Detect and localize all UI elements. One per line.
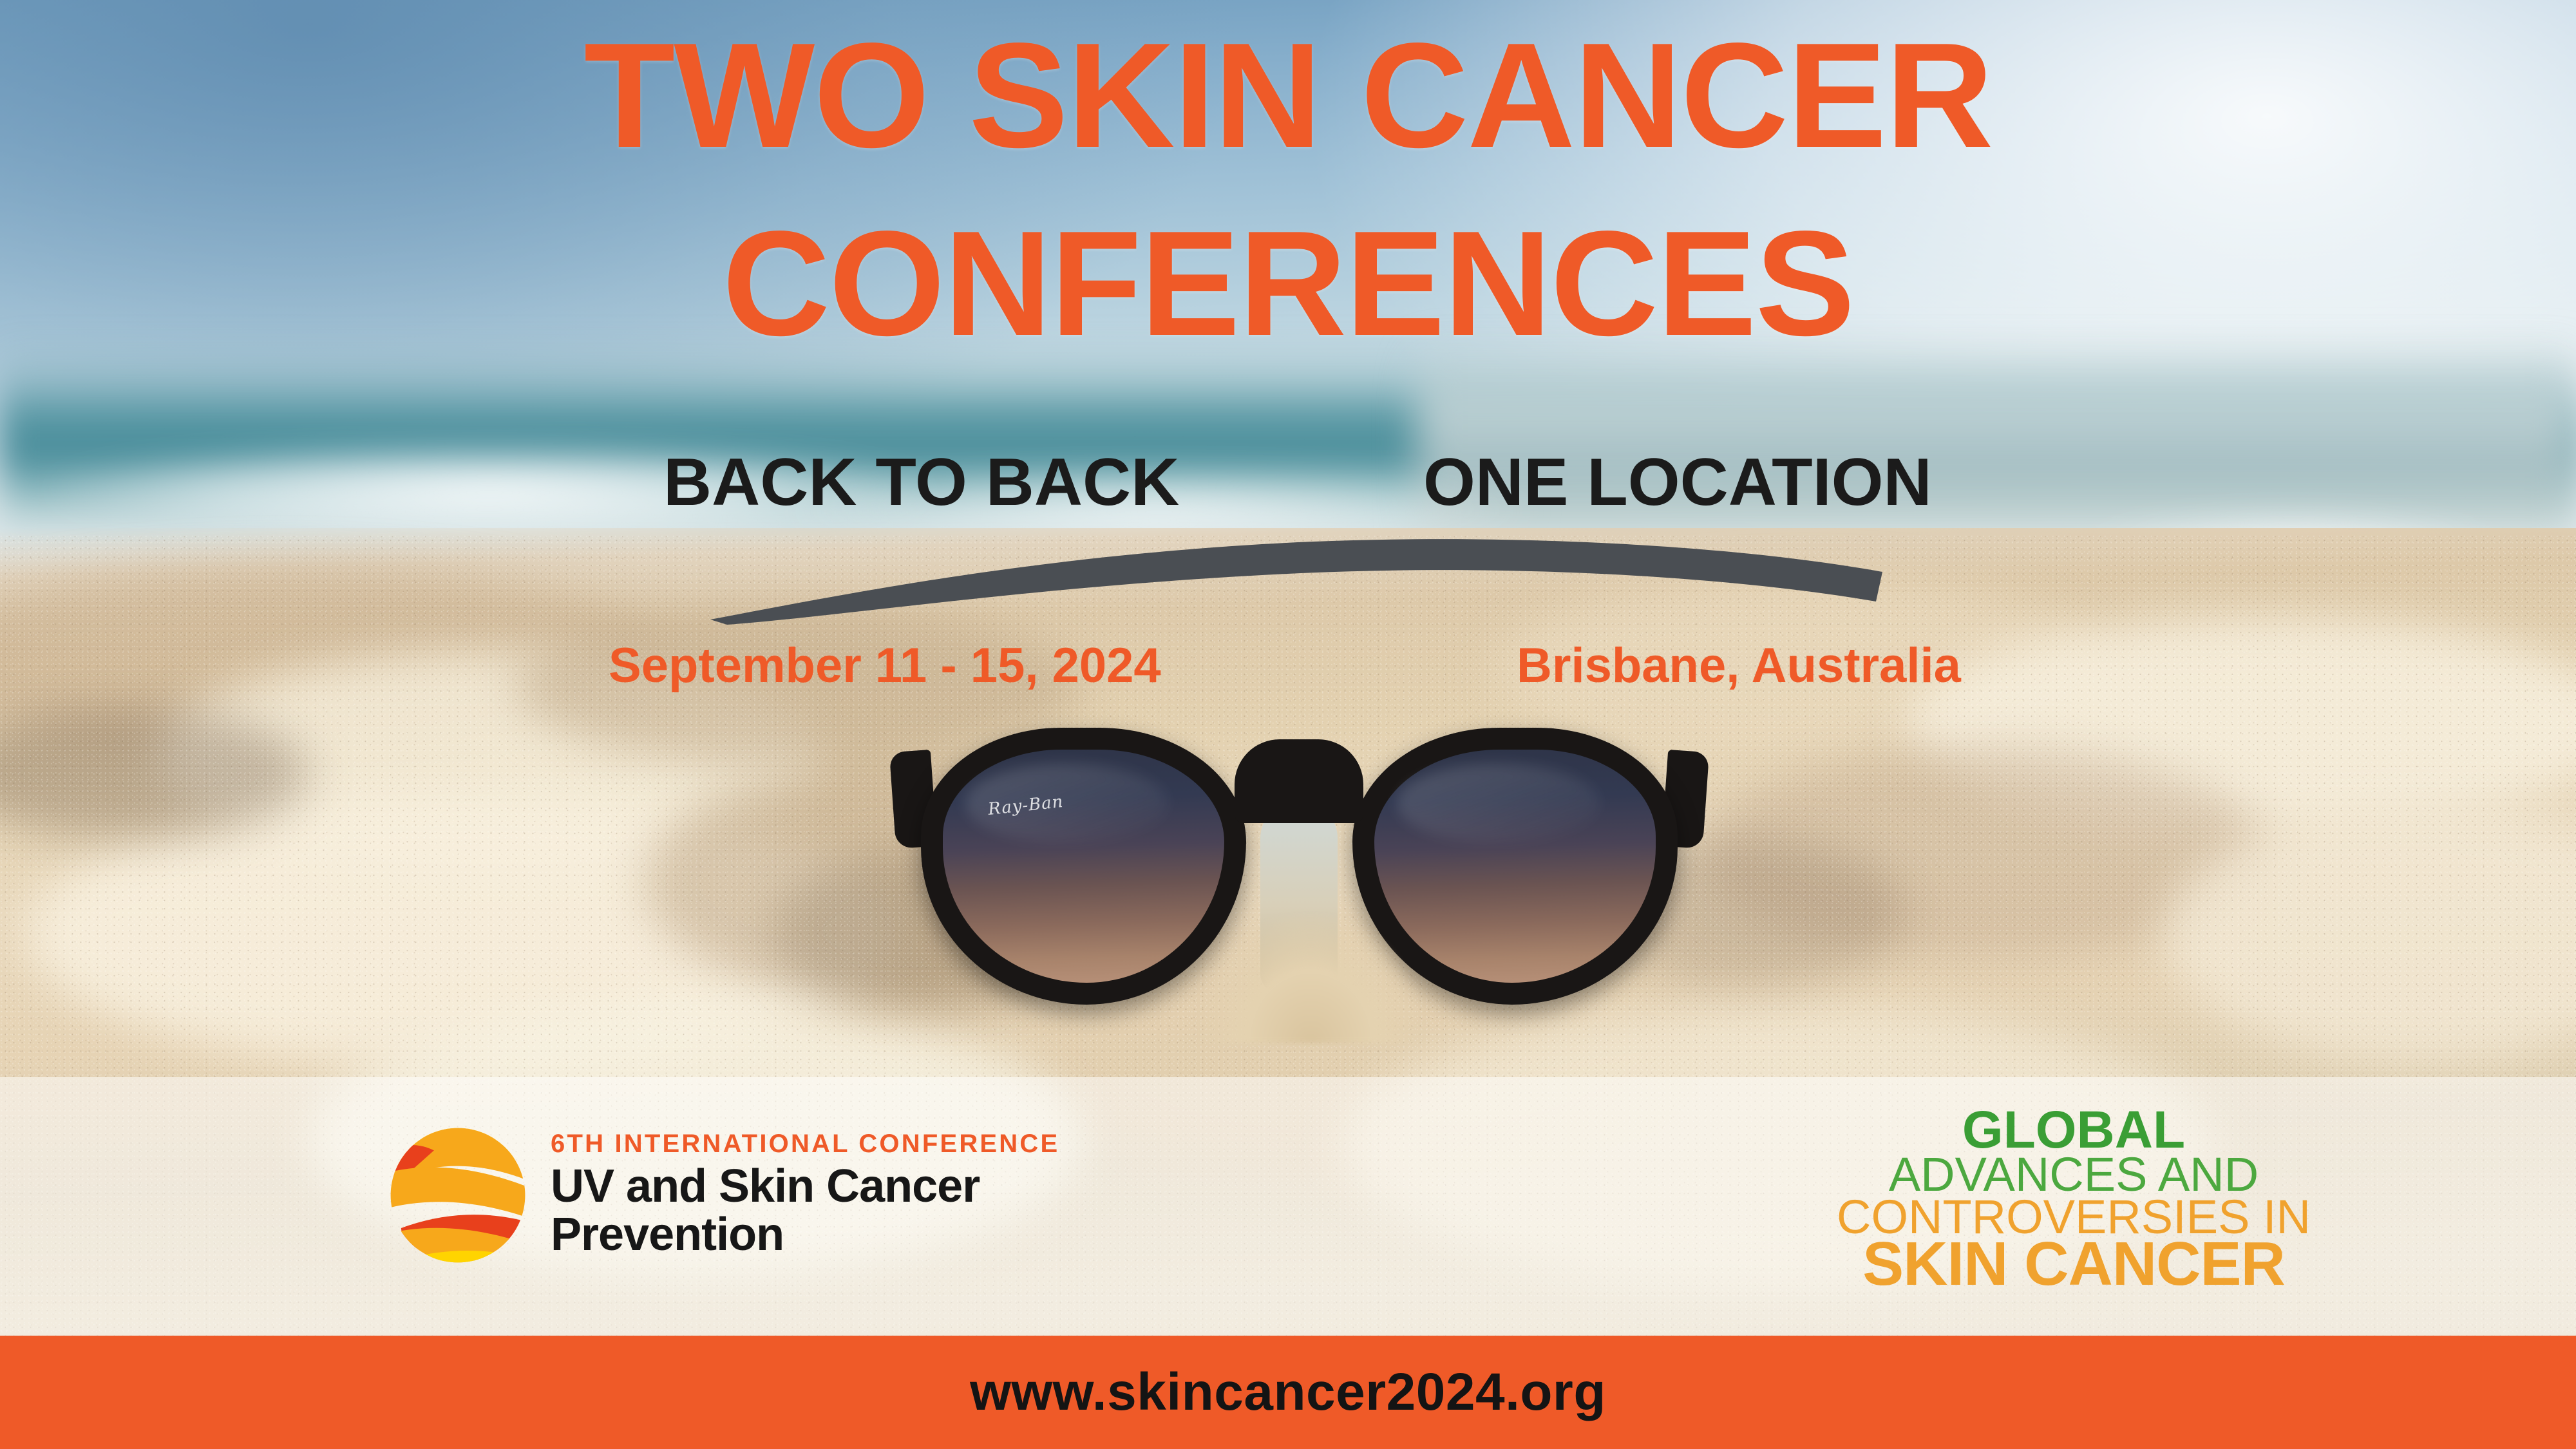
page-title-line-1: TWO SKIN CANCER (0, 24, 2576, 168)
sunglasses-lens-left: Ray-Ban (921, 728, 1246, 1005)
uv-logo-name-line-2: Prevention (551, 1211, 1059, 1259)
event-location: Brisbane, Australia (1517, 638, 1961, 694)
sun-globe-icon (383, 1121, 533, 1270)
subtitle-back-to-back: BACK TO BACK (663, 444, 1179, 521)
subtitle-one-location: ONE LOCATION (1423, 444, 1932, 521)
sand-pile-foreground (1198, 914, 1423, 1043)
website-url[interactable]: www.skincancer2024.org (970, 1362, 1606, 1423)
footer-url-bar: www.skincancer2024.org (0, 1336, 2576, 1449)
lens-reflection (1397, 764, 1600, 843)
uv-logo-name-line-1: UV and Skin Cancer (551, 1162, 1059, 1211)
brush-stroke-underline (699, 535, 1890, 625)
conference-edition-kicker: 6TH INTERNATIONAL CONFERENCE (551, 1130, 1059, 1159)
sunglasses-photo-subject: Ray-Ban (921, 728, 1678, 1024)
sunglasses-bridge (1235, 739, 1363, 823)
uv-logo-text: 6TH INTERNATIONAL CONFERENCE UV and Skin… (551, 1121, 1059, 1259)
global-logo-line-4: SKIN CANCER (1837, 1235, 2311, 1293)
uv-skin-cancer-prevention-logo: 6TH INTERNATIONAL CONFERENCE UV and Skin… (383, 1121, 1059, 1270)
event-dates: September 11 - 15, 2024 (609, 638, 1161, 694)
global-advances-skin-cancer-logo: GLOBAL ADVANCES AND CONTROVERSIES IN SKI… (1837, 1105, 2311, 1293)
page-title-line-2: CONFERENCES (0, 213, 2576, 356)
conference-promo-banner: Ray-Ban TWO SKIN CANCER CONFERENCES BACK… (0, 0, 2576, 1449)
